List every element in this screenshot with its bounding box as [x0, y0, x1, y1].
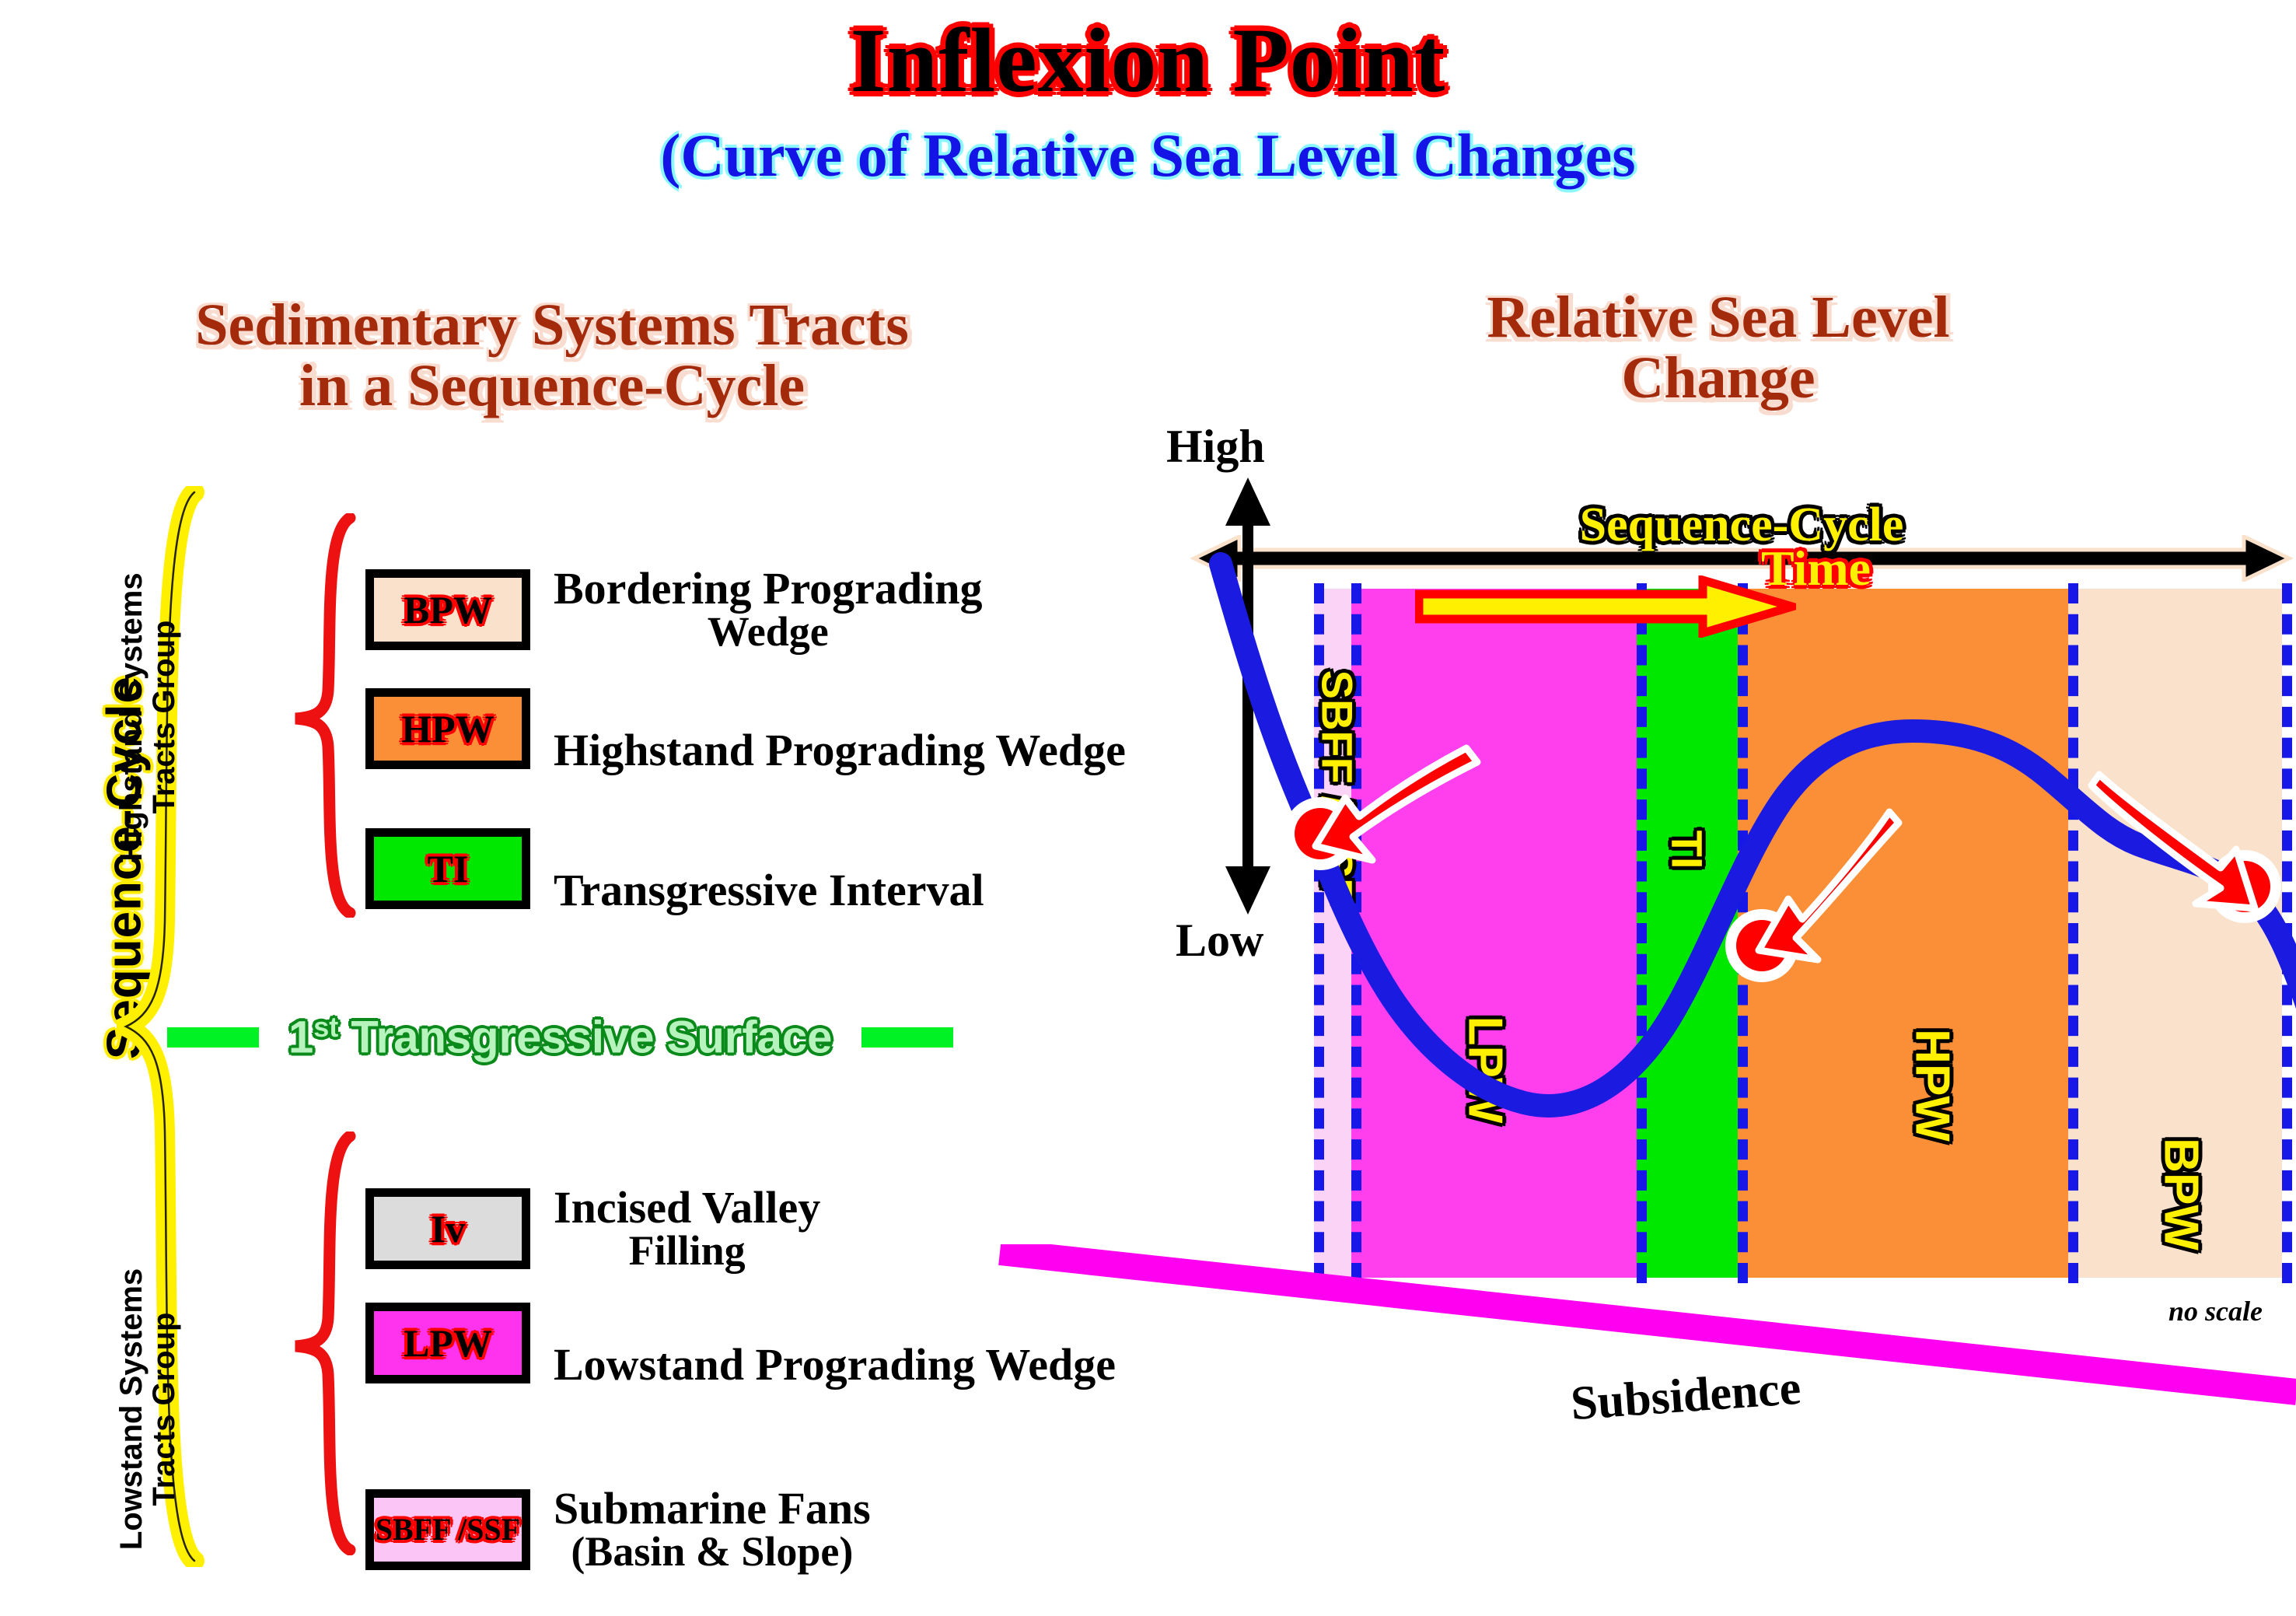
- legend-sub-iv: Filling: [554, 1230, 820, 1271]
- swatch-label-iv: Iv: [431, 1206, 465, 1251]
- swatch-sbff-ssf: SBFF /SSF: [365, 1489, 530, 1570]
- legend-main-sbff-ssf: Submarine Fans: [554, 1483, 871, 1534]
- legend-main-iv: Incised Valley: [554, 1182, 820, 1233]
- legend-text-iv: Incised Valley Filling: [554, 1142, 820, 1315]
- sea-level-curve-group: [1011, 498, 2296, 1353]
- legend-text-bpw: Bordering Prograding Wedge: [554, 523, 983, 696]
- legend-row-iv[interactable]: Iv Incised Valley Filling: [365, 1142, 820, 1315]
- sea-level-chart: Sequence-Cycle SBFF / SSF LPW TI HPW BPW…: [1190, 498, 2294, 1562]
- legend-main-bpw: Bordering Prograding: [554, 563, 983, 614]
- no-scale-label: no scale: [2168, 1295, 2263, 1327]
- green-bar-left-icon: [167, 1027, 259, 1048]
- swatch-ti: TI: [365, 828, 530, 909]
- legend-text-sbff-ssf: Submarine Fans (Basin & Slope): [554, 1443, 871, 1616]
- green-bar-right-icon: [861, 1027, 953, 1048]
- page-title: Inflexion Point: [0, 8, 2296, 114]
- first-transgressive-surface-label: 1st Transgressive Surface: [288, 1011, 832, 1063]
- legend-row-sbff[interactable]: SBFF /SSF Submarine Fans (Basin & Slope): [365, 1443, 871, 1616]
- legend-sub-sbff-ssf: (Basin & Slope): [554, 1531, 871, 1572]
- swatch-label-sbff-ssf: SBFF /SSF: [376, 1511, 520, 1548]
- swatch-iv: Iv: [365, 1188, 530, 1269]
- swatch-label-ti: TI: [428, 846, 469, 891]
- legend-text-ti: Transgressive Interval: [554, 824, 984, 913]
- legend-row-bpw[interactable]: BPW Bordering Prograding Wedge: [365, 523, 983, 696]
- highstand-group-label: Highstand Systems Tracts Group: [115, 554, 180, 880]
- lowstand-group-label: Lowstand Systems Tracts Group: [115, 1246, 180, 1572]
- swatch-hpw: HPW: [365, 688, 530, 769]
- left-panel-header: Sedimentary Systems Tracts in a Sequence…: [16, 296, 1089, 416]
- inflexion-arrow-2: [1759, 812, 1899, 960]
- axis-label-high: High: [1166, 420, 1265, 474]
- lowstand-group-brace: [288, 1132, 365, 1555]
- legend-sub-bpw: Wedge: [554, 611, 983, 652]
- tsurf-ordinal: 1: [288, 1012, 313, 1062]
- page-subtitle: (Curve of Relative Sea Level Changes: [0, 121, 2296, 191]
- inflexion-arrow-1: [1316, 748, 1477, 860]
- legend-main-ti: Transgressive Interval: [554, 865, 984, 915]
- swatch-label-hpw: HPW: [401, 706, 494, 751]
- tsurf-main: Transgressive Surface: [351, 1012, 832, 1062]
- right-panel-header: Relative Sea Level Change: [1190, 288, 2247, 408]
- swatch-bpw: BPW: [365, 569, 530, 650]
- first-transgressive-surface-row: 1st Transgressive Surface: [167, 1011, 953, 1063]
- swatch-label-bpw: BPW: [404, 587, 492, 632]
- swatch-lpw: LPW: [365, 1303, 530, 1383]
- legend-row-ti[interactable]: TI Transgressive Interval: [365, 824, 984, 913]
- tsurf-ordinal-sup: st: [313, 1011, 338, 1043]
- highstand-group-brace: [288, 513, 365, 918]
- swatch-label-lpw: LPW: [404, 1320, 492, 1366]
